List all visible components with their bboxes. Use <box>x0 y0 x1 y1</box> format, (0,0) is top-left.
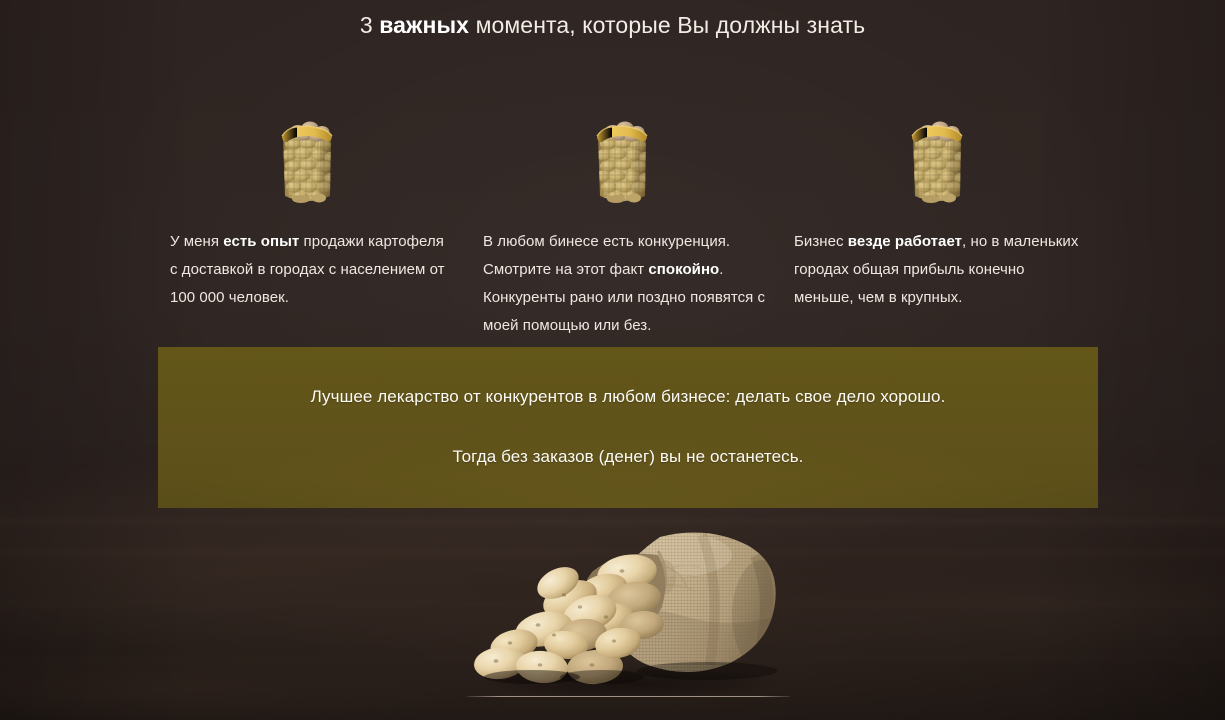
page-title: 3 важных момента, которые Вы должны знат… <box>0 8 1225 42</box>
feature-column-1-text: У меня есть опыт продажи картофеля с дос… <box>152 228 465 312</box>
potato-burlap-sack-image <box>462 525 787 697</box>
potato-mesh-bag-icon <box>152 112 465 208</box>
highlight-callout-box: Лучшее лекарство от конкурентов в любом … <box>158 347 1098 508</box>
feature-1-emphasis: есть опыт <box>223 233 299 250</box>
feature-column-2-text: В любом бинесе есть конкуренция. Смотрит… <box>465 228 778 340</box>
feature-column-3-text: Бизнес везде работает, но в маленьких го… <box>778 228 1091 312</box>
section-divider <box>467 696 790 697</box>
landing-page-section: 3 важных момента, которые Вы должны знат… <box>0 0 1225 720</box>
feature-3-text-part-1: Бизнес <box>794 233 848 250</box>
feature-2-emphasis: спокойно <box>648 261 719 278</box>
feature-column-1: У меня есть опыт продажи картофеля с дос… <box>152 112 465 340</box>
feature-1-text-part-1: У меня <box>170 233 223 250</box>
feature-column-2: В любом бинесе есть конкуренция. Смотрит… <box>465 112 778 340</box>
page-title-prefix: 3 <box>360 12 379 38</box>
page-title-emphasis: важных <box>379 12 469 38</box>
feature-column-3: Бизнес везде работает, но в маленьких го… <box>778 112 1091 340</box>
highlight-spacer <box>158 409 1098 445</box>
highlight-line-2: Тогда без заказов (денег) вы не останете… <box>158 445 1098 469</box>
feature-columns: У меня есть опыт продажи картофеля с дос… <box>152 112 1092 340</box>
feature-3-emphasis: везде работает <box>848 233 962 250</box>
page-title-suffix: момента, которые Вы должны знать <box>469 12 865 38</box>
potato-mesh-bag-icon <box>778 112 1091 208</box>
highlight-callout-content: Лучшее лекарство от конкурентов в любом … <box>158 385 1098 469</box>
highlight-line-1: Лучшее лекарство от конкурентов в любом … <box>158 385 1098 409</box>
potato-mesh-bag-icon <box>465 112 778 208</box>
